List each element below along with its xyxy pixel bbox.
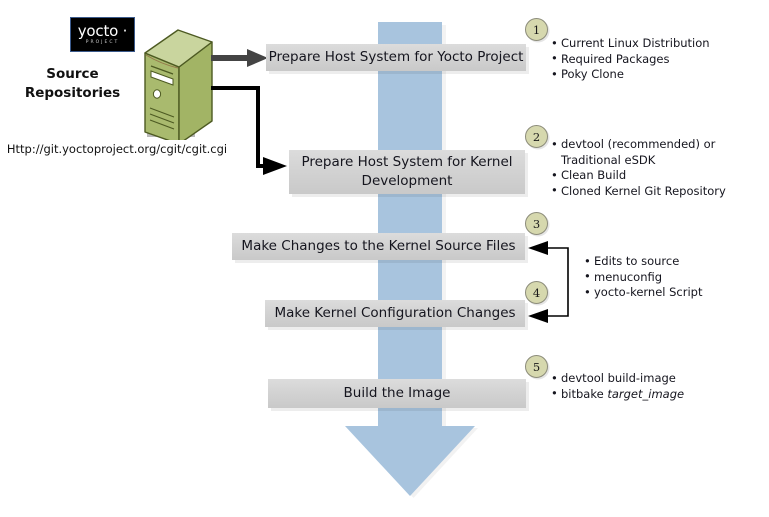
list-item: Poky Clone	[561, 67, 763, 83]
list-item: Required Packages	[561, 52, 763, 68]
arrow-head-to-step3	[528, 241, 548, 255]
step-number-5: 5	[525, 355, 548, 378]
process-box-step-3[interactable]: Make Changes to the Kernel Source Files	[232, 233, 525, 260]
list-item: bitbake target_image	[561, 387, 760, 403]
notes-list-step-1: Current Linux Distribution Required Pack…	[548, 36, 763, 83]
step-number-3: 3	[525, 212, 548, 235]
source-label-line-2: Repositories	[10, 84, 135, 103]
process-box-label-2: Prepare Host System for Kernel Developme…	[289, 153, 525, 191]
bitbake-command-prefix: bitbake	[561, 387, 607, 401]
logo-wordmark: yocto ·	[78, 24, 128, 39]
list-item: devtool build-image	[561, 371, 760, 387]
list-item: yocto-kernel Script	[594, 285, 761, 301]
notes-list-steps-3-4: Edits to source menuconfig yocto-kernel …	[581, 254, 761, 301]
bitbake-target-image-argument: target_image	[607, 387, 684, 401]
process-box-label-3: Make Changes to the Kernel Source Files	[241, 237, 515, 256]
step-number-2: 2	[525, 125, 548, 148]
process-box-label-5: Build the Image	[344, 384, 451, 403]
source-repositories-label: Source Repositories	[10, 65, 135, 103]
arrow-head-to-step1	[247, 49, 268, 67]
step-number-4: 4	[525, 281, 548, 304]
process-box-step-1[interactable]: Prepare Host System for Yocto Project	[266, 44, 526, 71]
yocto-project-logo: yocto · PROJECT	[70, 17, 135, 52]
process-box-label-4: Make Kernel Configuration Changes	[274, 304, 515, 323]
step-number-1: 1	[525, 18, 548, 41]
process-box-step-4[interactable]: Make Kernel Configuration Changes	[265, 300, 525, 327]
process-box-step-5[interactable]: Build the Image	[268, 379, 526, 408]
process-box-label-1: Prepare Host System for Yocto Project	[269, 48, 524, 67]
shared-notes-bracket	[520, 230, 590, 330]
flow-arrow-shaft	[378, 22, 442, 428]
source-label-line-1: Source	[10, 65, 135, 84]
flow-arrow-head	[345, 426, 475, 496]
process-box-step-2[interactable]: Prepare Host System for Kernel Developme…	[289, 150, 525, 194]
notes-list-step-2: devtool (recommended) or Traditional eSD…	[548, 137, 760, 199]
list-item: Cloned Kernel Git Repository	[561, 184, 760, 200]
list-item: devtool (recommended) or Traditional eSD…	[561, 137, 760, 168]
arrow-head-to-step4	[528, 309, 548, 323]
notes-list-step-5: devtool build-image bitbake target_image	[548, 371, 760, 402]
list-item: Current Linux Distribution	[561, 36, 763, 52]
list-item: menuconfig	[594, 270, 761, 286]
list-item: Edits to source	[594, 254, 761, 270]
list-item: Clean Build	[561, 168, 760, 184]
workflow-diagram: yocto · PROJECT Source Repositories Http…	[0, 0, 769, 517]
logo-subtitle: PROJECT	[86, 40, 119, 46]
arrow-head-to-step2	[263, 157, 287, 175]
